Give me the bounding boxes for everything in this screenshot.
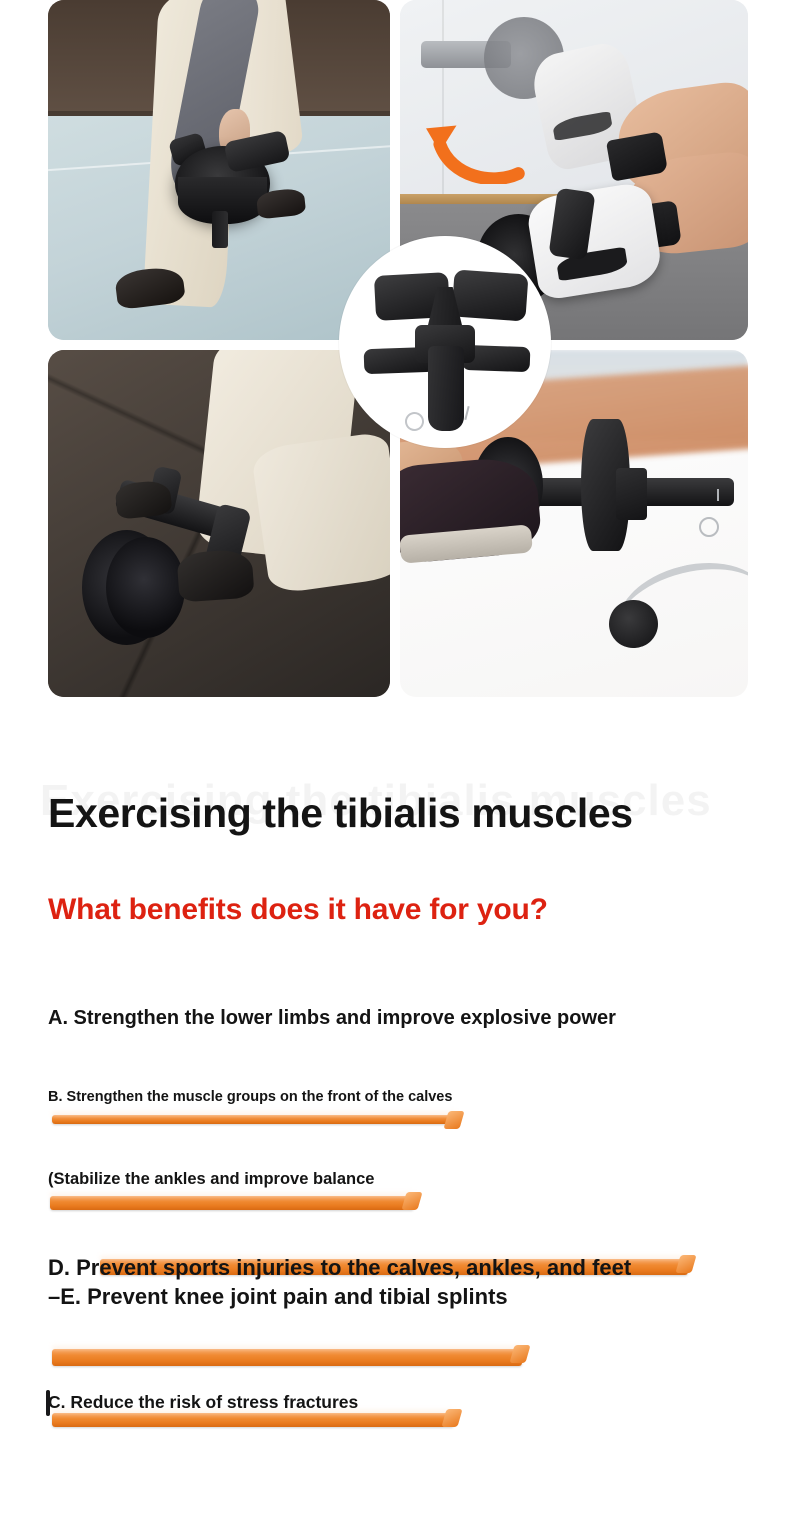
benefit-text-a: A. Strengthen the lower limbs and improv… [48, 1007, 616, 1030]
photo-bottom-left[interactable] [48, 350, 390, 697]
page-title: Exercising the tibialis muscles [48, 790, 633, 837]
benefit-text-de: D. Prevent sports injuries to the calves… [48, 1253, 648, 1311]
motion-arrow-icon [421, 95, 525, 183]
frame-knob [609, 600, 658, 649]
shoe-back [115, 479, 173, 519]
benefit-item-c: C. Reduce the risk of stress fractures [48, 1392, 358, 1413]
benefit-text-c: C. Reduce the risk of stress fractures [48, 1392, 358, 1413]
benefit-body-stabilize: Stabilize the ankles and improve balance [54, 1170, 375, 1188]
benefit-item-a: A. Strengthen the lower limbs and improv… [48, 1007, 616, 1030]
device-stem [212, 211, 227, 248]
bar-pin [717, 489, 719, 501]
stroke-artifact [46, 1390, 50, 1416]
device-tube [428, 346, 464, 431]
pull-ring [699, 517, 719, 537]
benefit-item-b: B. Strengthen the muscle groups on the f… [48, 1089, 452, 1105]
product-circle-inset[interactable] [339, 236, 551, 448]
photo-gallery [48, 0, 748, 697]
benefit-item-de: D. Prevent sports injuries to the calves… [48, 1253, 648, 1311]
weight-plate-inner [106, 537, 185, 638]
shoe-front [176, 549, 254, 603]
highlight-bar-de-bottom [52, 1349, 522, 1366]
benefit-text-stabilize: (Stabilize the ankles and improve balanc… [48, 1170, 374, 1189]
highlight-bar-b [52, 1115, 456, 1124]
foam-pad-top-right [452, 270, 529, 322]
device-pin [465, 406, 470, 420]
section-subtitle: What benefits does it have for you? [48, 893, 548, 927]
bar-collar-clip [616, 468, 647, 520]
pull-ring [402, 409, 426, 433]
trouser-leg-right [251, 431, 390, 594]
highlight-bar-c [52, 1413, 454, 1427]
benefit-item-stabilize: (Stabilize the ankles and improve balanc… [48, 1170, 374, 1189]
benefit-text-b: B. Strengthen the muscle groups on the f… [48, 1089, 452, 1105]
photo-top-left[interactable] [48, 0, 390, 340]
highlight-bar-stabilize [50, 1196, 414, 1210]
